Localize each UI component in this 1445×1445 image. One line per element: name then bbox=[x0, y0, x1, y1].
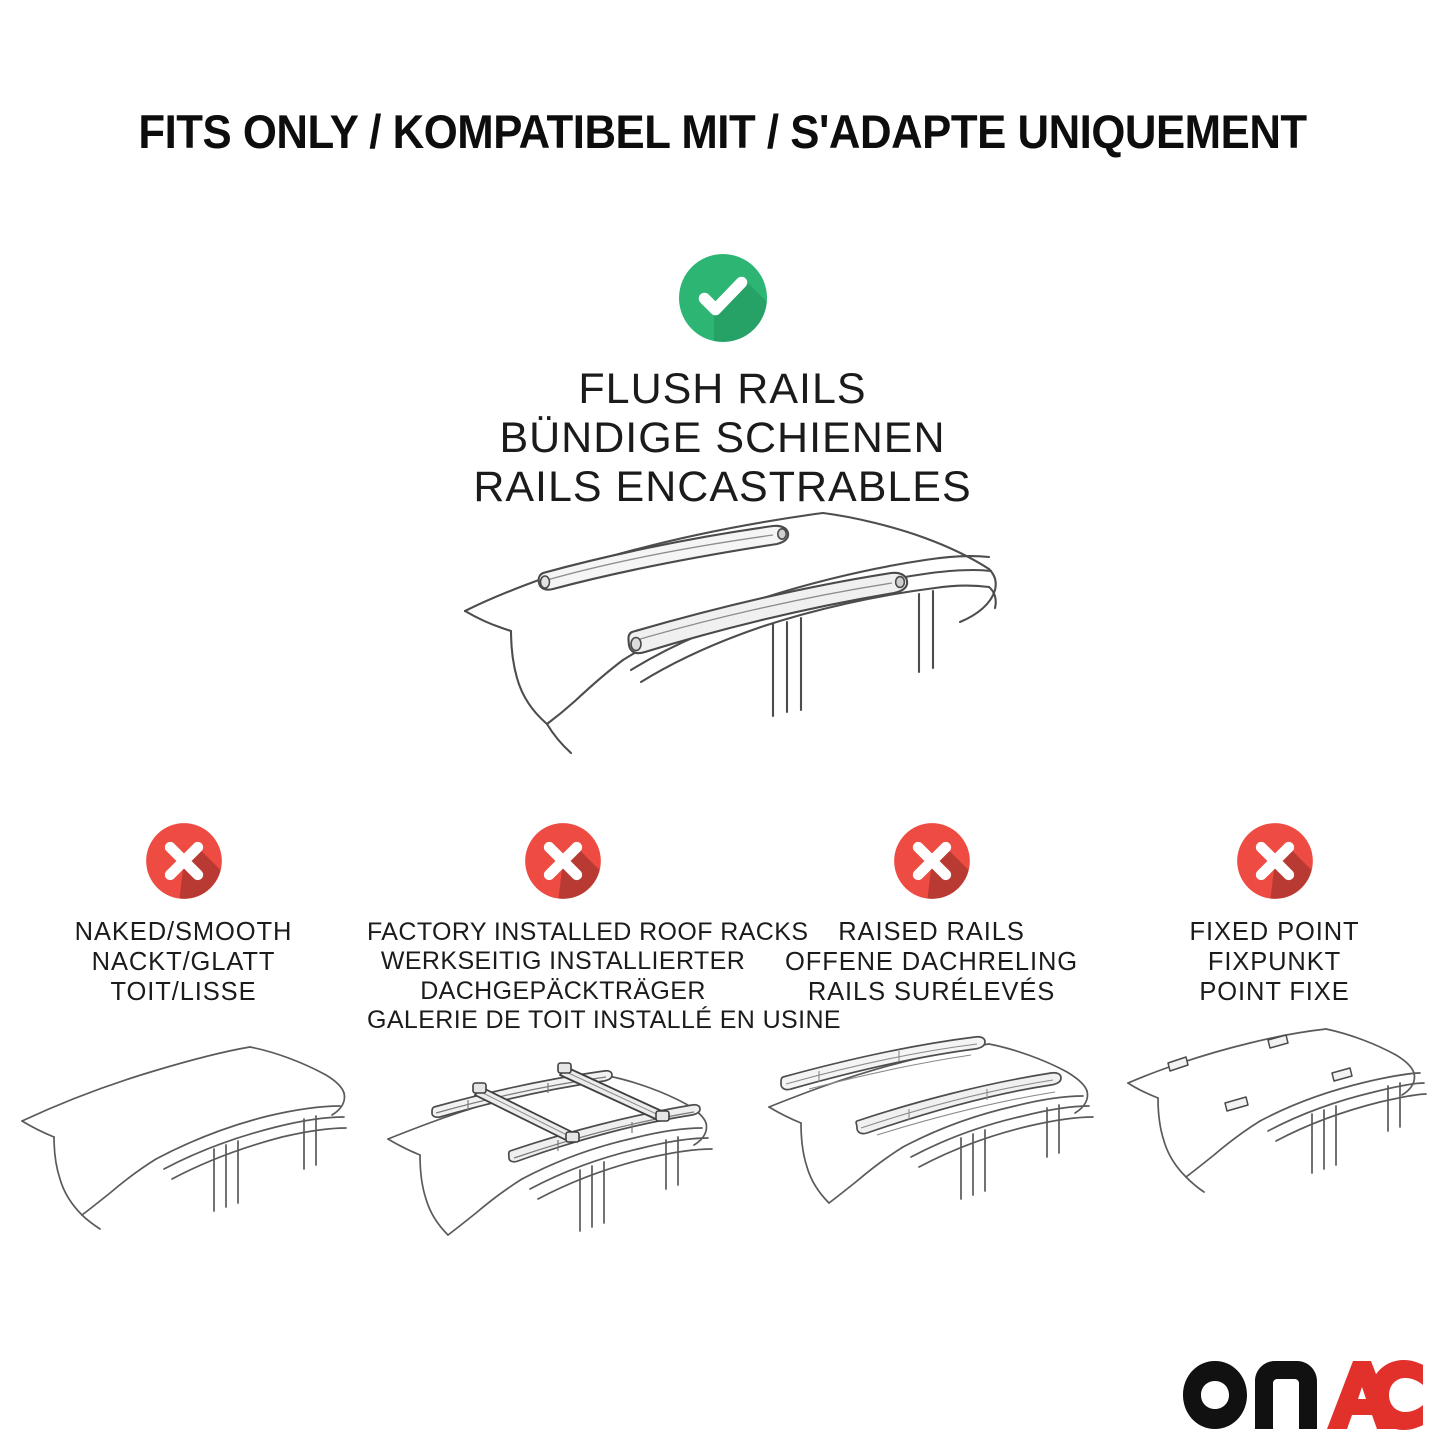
label-line-de: NACKT/GLATT bbox=[0, 948, 367, 978]
label-line-de-2: DACHGEPÄCKTRÄGER bbox=[367, 977, 759, 1006]
cross-circle-icon bbox=[141, 818, 227, 904]
page-title: FITS ONLY / KOMPATIBEL MIT / S'ADAPTE UN… bbox=[51, 104, 1395, 159]
label-line-fr: RAILS SURÉLEVÉS bbox=[759, 978, 1104, 1008]
label-line-fr: TOIT/LISSE bbox=[0, 978, 367, 1008]
car-roof-fixed-point-illustration bbox=[1120, 1021, 1430, 1226]
omac-logo bbox=[1175, 1353, 1425, 1431]
check-circle-icon bbox=[673, 248, 773, 348]
incompatible-section: NAKED/SMOOTH NACKT/GLATT TOIT/LISSE bbox=[0, 818, 1445, 1259]
label-line-fr: POINT FIXE bbox=[1104, 978, 1445, 1008]
compatible-label-de: BÜNDIGE SCHIENEN bbox=[0, 414, 1445, 463]
incompatible-item-raised-rails: RAISED RAILS OFFENE DACHRELING RAILS SUR… bbox=[759, 818, 1104, 1230]
label-line-de: FIXPUNKT bbox=[1104, 948, 1445, 978]
car-roof-with-flush-rails-illustration bbox=[455, 472, 1015, 772]
cross-circle-icon bbox=[889, 818, 975, 904]
car-roof-with-raised-rails-illustration bbox=[759, 1015, 1104, 1230]
incompatible-labels: NAKED/SMOOTH NACKT/GLATT TOIT/LISSE bbox=[0, 918, 367, 1007]
product-compatibility-infographic: FITS ONLY / KOMPATIBEL MIT / S'ADAPTE UN… bbox=[0, 0, 1445, 1445]
label-line-de: OFFENE DACHRELING bbox=[759, 948, 1104, 978]
label-line-en: RAISED RAILS bbox=[759, 918, 1104, 948]
incompatible-item-factory-roof-racks: FACTORY INSTALLED ROOF RACKS WERKSEITIG … bbox=[367, 818, 759, 1259]
incompatible-labels: FACTORY INSTALLED ROOF RACKS WERKSEITIG … bbox=[367, 918, 759, 1035]
incompatible-item-fixed-point: FIXED POINT FIXPUNKT POINT FIXE bbox=[1104, 818, 1445, 1226]
car-roof-bare-illustration bbox=[14, 1021, 354, 1231]
label-line-en: NAKED/SMOOTH bbox=[0, 918, 367, 948]
label-line-de-1: WERKSEITIG INSTALLIERTER bbox=[367, 947, 759, 976]
incompatible-labels: RAISED RAILS OFFENE DACHRELING RAILS SUR… bbox=[759, 918, 1104, 1007]
compatible-label-en: FLUSH RAILS bbox=[0, 365, 1445, 414]
cross-circle-icon bbox=[1232, 818, 1318, 904]
incompatible-item-naked-smooth: NAKED/SMOOTH NACKT/GLATT TOIT/LISSE bbox=[0, 818, 367, 1231]
label-line-en: FIXED POINT bbox=[1104, 918, 1445, 948]
incompatible-labels: FIXED POINT FIXPUNKT POINT FIXE bbox=[1104, 918, 1445, 1007]
cross-circle-icon bbox=[520, 818, 606, 904]
label-line-en: FACTORY INSTALLED ROOF RACKS bbox=[367, 918, 759, 947]
label-line-fr: GALERIE DE TOIT INSTALLÉ EN USINE bbox=[367, 1006, 759, 1035]
car-roof-with-factory-crossbars-illustration bbox=[378, 1039, 748, 1259]
